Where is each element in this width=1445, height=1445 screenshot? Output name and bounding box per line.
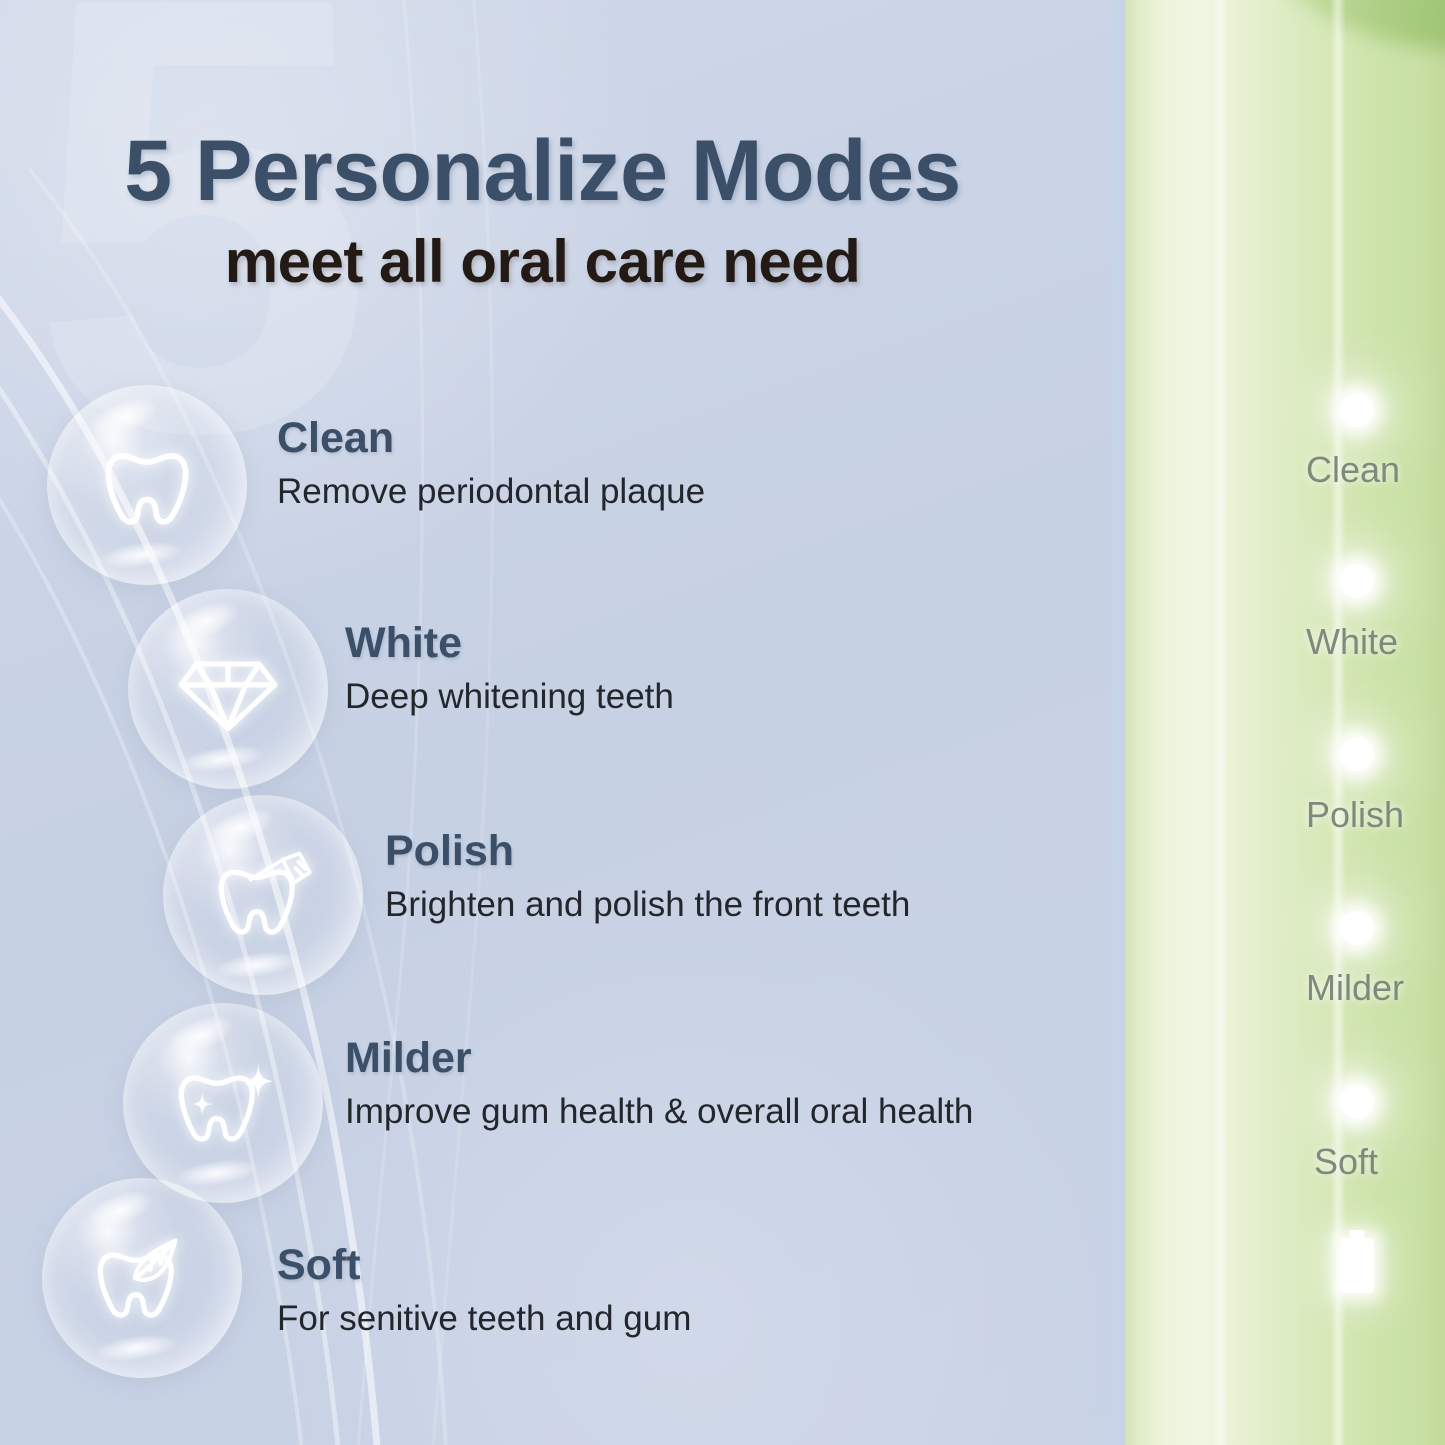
tooth-polish-icon: [209, 841, 317, 949]
mode-description: Remove periodontal plaque: [277, 472, 705, 512]
mode-description: Brighten and polish the front teeth: [385, 885, 910, 925]
battery-icon: [1340, 1238, 1374, 1293]
bubble-glare-bottom: [214, 947, 301, 982]
mode-description: For senitive teeth and gum: [277, 1299, 691, 1339]
bubble-polish: [163, 795, 363, 995]
led-label: White: [1306, 624, 1398, 660]
led-label: Milder: [1306, 970, 1404, 1006]
led-dot: [1340, 393, 1374, 427]
mode-name: White: [345, 620, 674, 667]
led-dot: [1340, 737, 1374, 771]
mode-indicator-panel: Clean White Polish Milder Soft: [1112, 0, 1445, 1445]
diamond-icon: [176, 637, 280, 741]
bubble-milder: [123, 1003, 323, 1203]
mode-list: Clean Remove periodontal plaque: [0, 0, 1115, 1445]
led-label: Polish: [1306, 797, 1404, 833]
mode-description: Deep whitening teeth: [345, 677, 674, 717]
mode-name: Milder: [345, 1035, 973, 1082]
mode-name: Polish: [385, 828, 910, 875]
tooth-icon: [95, 433, 199, 537]
bubble-clean: [47, 385, 247, 585]
bubble-glare-bottom: [179, 741, 266, 776]
infographic-page: 5 5 Personalize Modes meet all oral care…: [0, 0, 1445, 1445]
tooth-leaf-icon: [88, 1224, 196, 1332]
mode-description: Improve gum health & overall oral health: [345, 1092, 973, 1132]
mode-name: Clean: [277, 415, 705, 462]
led-dot: [1340, 911, 1374, 945]
mode-text-white: White Deep whitening teeth: [345, 620, 674, 718]
bubble-soft: [42, 1178, 242, 1378]
led-label: Soft: [1314, 1144, 1378, 1180]
tooth-sparkle-icon: [169, 1049, 277, 1157]
mode-text-polish: Polish Brighten and polish the front tee…: [385, 828, 910, 926]
bubble-glare-bottom: [174, 1155, 261, 1190]
led-dot: [1340, 1085, 1374, 1119]
mode-name: Soft: [277, 1242, 691, 1289]
mode-text-clean: Clean Remove periodontal plaque: [277, 415, 705, 513]
led-dot: [1340, 564, 1374, 598]
bubble-white: [128, 589, 328, 789]
bubble-glare-bottom: [93, 1330, 180, 1365]
bubble-glare-bottom: [98, 537, 185, 572]
led-label: Clean: [1306, 452, 1400, 488]
toothbrush-handle: Clean White Polish Milder Soft: [1112, 0, 1445, 1445]
mode-text-milder: Milder Improve gum health & overall oral…: [345, 1035, 973, 1133]
mode-text-soft: Soft For senitive teeth and gum: [277, 1242, 691, 1340]
